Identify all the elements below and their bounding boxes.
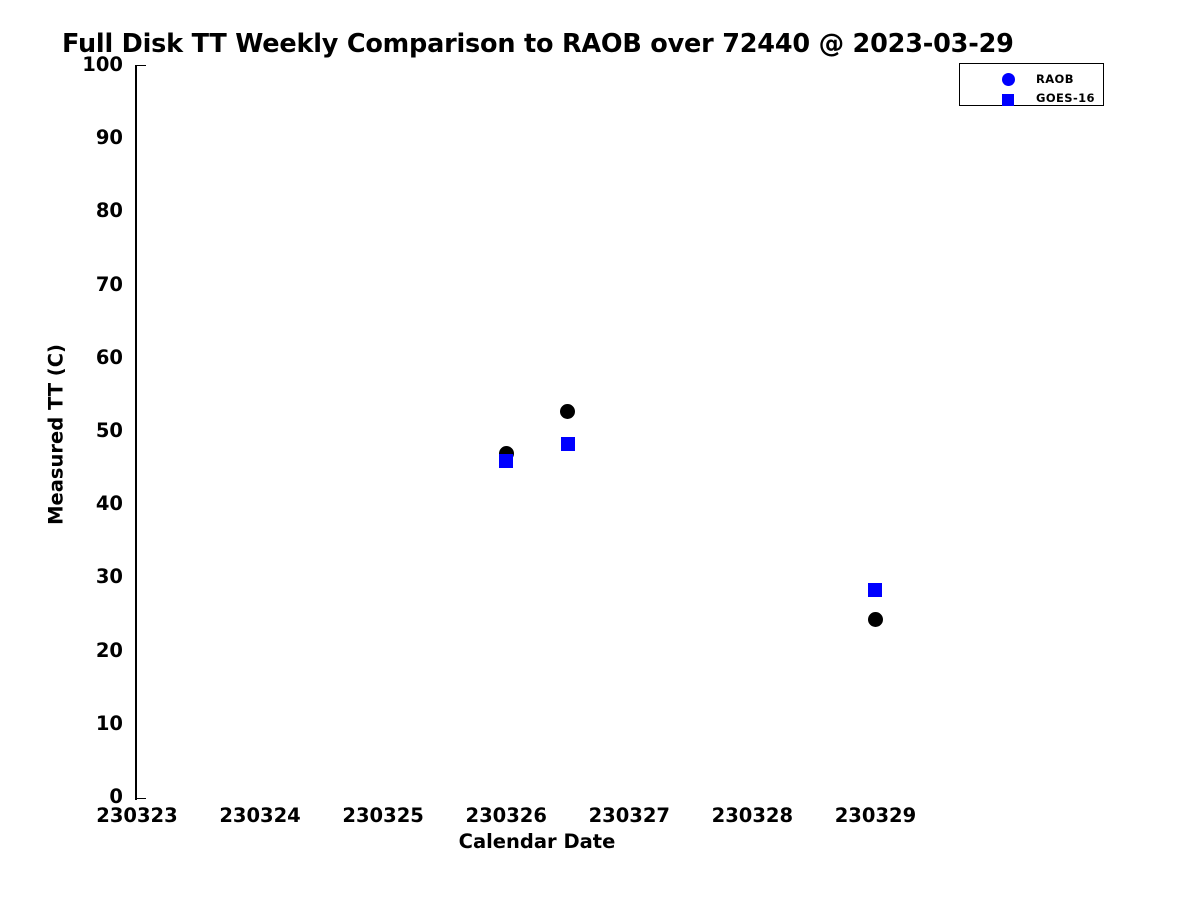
x-tick-label: 230326 — [436, 804, 576, 827]
x-tick-label: 230325 — [313, 804, 453, 827]
y-tick-label: 90 — [53, 126, 123, 149]
data-point-raob — [560, 404, 575, 419]
legend-item-raob[interactable]: RAOB — [960, 72, 1105, 90]
y-tick-label: 20 — [53, 639, 123, 662]
chart-figure: Full Disk TT Weekly Comparison to RAOB o… — [0, 0, 1200, 900]
legend-label: RAOB — [1036, 72, 1074, 86]
legend-item-goes-16[interactable]: GOES-16 — [960, 91, 1105, 109]
plot-area — [137, 66, 937, 798]
circle-marker-icon — [1002, 73, 1015, 86]
x-tick-label: 230323 — [67, 804, 207, 827]
x-tick-label: 230324 — [190, 804, 330, 827]
y-tick-label: 100 — [53, 53, 123, 76]
chart-legend: RAOBGOES-16 — [959, 63, 1104, 106]
x-tick-label: 230327 — [559, 804, 699, 827]
data-point-goes-16 — [868, 583, 882, 597]
data-point-goes-16 — [499, 454, 513, 468]
x-tick-label: 230329 — [805, 804, 945, 827]
square-marker-icon — [1002, 94, 1014, 106]
y-tick-label: 10 — [53, 712, 123, 735]
x-tick-label: 230328 — [682, 804, 822, 827]
page-title: Full Disk TT Weekly Comparison to RAOB o… — [62, 29, 1062, 59]
x-axis-label: Calendar Date — [337, 830, 737, 853]
data-point-goes-16 — [561, 437, 575, 451]
data-point-raob — [868, 612, 883, 627]
legend-label: GOES-16 — [1036, 91, 1095, 105]
y-axis-label: Measured TT (C) — [45, 275, 68, 595]
y-tick-label: 80 — [53, 199, 123, 222]
